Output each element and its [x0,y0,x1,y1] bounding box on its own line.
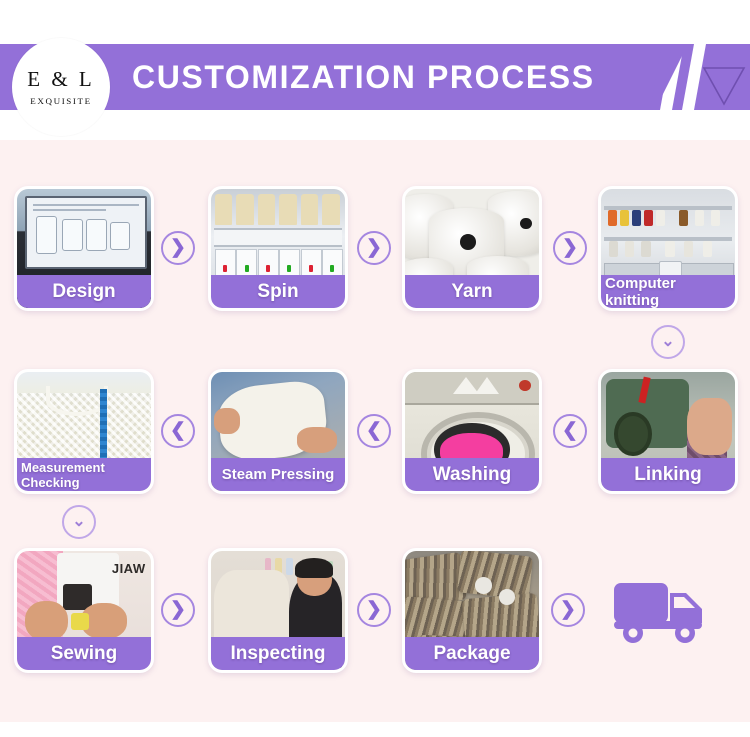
step-card-yarn[interactable]: Yarn [402,186,542,311]
step-label: Linking [601,458,735,491]
step-card-sewing[interactable]: JIAW Sewing [14,548,154,673]
chevron-right-icon: ❯ [170,238,186,257]
deco-bar-1 [650,44,672,110]
chevron-left-icon: ❮ [170,421,186,440]
step-label: Sewing [17,637,151,670]
connector-arrow-right: ❯ [551,593,585,627]
chevron-down-icon: ⌄ [661,334,674,350]
step-label: Design [17,275,151,308]
header: CUSTOMIZATION PROCESS [0,44,750,110]
connector-arrow-down: ⌄ [651,325,685,359]
connector-arrow-left: ❮ [161,414,195,448]
step-card-design[interactable]: Design [14,186,154,311]
step-card-inspecting[interactable]: Inspecting [208,548,348,673]
chevron-left-icon: ❮ [562,421,578,440]
step-label: Washing [405,458,539,491]
connector-arrow-left: ❮ [553,414,587,448]
connector-arrow-right: ❯ [161,593,195,627]
step-label: Inspecting [211,637,345,670]
logo-main-text: E & L [27,69,95,90]
delivery-truck-icon [612,575,708,647]
step-label: Yarn [405,275,539,308]
chevron-right-icon: ❯ [170,600,186,619]
step-label: Spin [211,275,345,308]
logo-sub-text: EXQUISITE [30,96,91,105]
chevron-right-icon: ❯ [560,600,576,619]
step-card-linking[interactable]: Linking [598,369,738,494]
step-card-measurement-checking[interactable]: Measurement Checking [14,369,154,494]
step-label: Computer knitting [601,275,735,308]
step-label: Package [405,637,539,670]
connector-arrow-right: ❯ [357,231,391,265]
chevron-down-icon: ⌄ [72,514,85,530]
step-card-spin[interactable]: Spin [208,186,348,311]
chevron-right-icon: ❯ [562,238,578,257]
infographic-root: CUSTOMIZATION PROCESS E & L EXQUISITE [0,0,750,737]
step-card-washing[interactable]: Washing [402,369,542,494]
deco-bar-2 [672,44,694,110]
connector-arrow-right: ❯ [161,231,195,265]
step-card-package[interactable]: Package [402,548,542,673]
connector-arrow-left: ❮ [357,414,391,448]
chevron-right-icon: ❯ [366,238,382,257]
triangle-outline-icon [702,66,746,106]
step-label: Steam Pressing [211,458,345,491]
brand-logo: E & L EXQUISITE [12,38,110,136]
connector-arrow-right: ❯ [553,231,587,265]
page-title: CUSTOMIZATION PROCESS [132,44,595,110]
chevron-right-icon: ❯ [366,600,382,619]
step-label: Measurement Checking [17,458,151,491]
chevron-left-icon: ❮ [366,421,382,440]
connector-arrow-right: ❯ [357,593,391,627]
connector-arrow-down: ⌄ [62,505,96,539]
step-card-steam-pressing[interactable]: Steam Pressing [208,369,348,494]
step-card-computer-knitting[interactable]: Computer knitting [598,186,738,311]
header-decoration [648,44,750,110]
